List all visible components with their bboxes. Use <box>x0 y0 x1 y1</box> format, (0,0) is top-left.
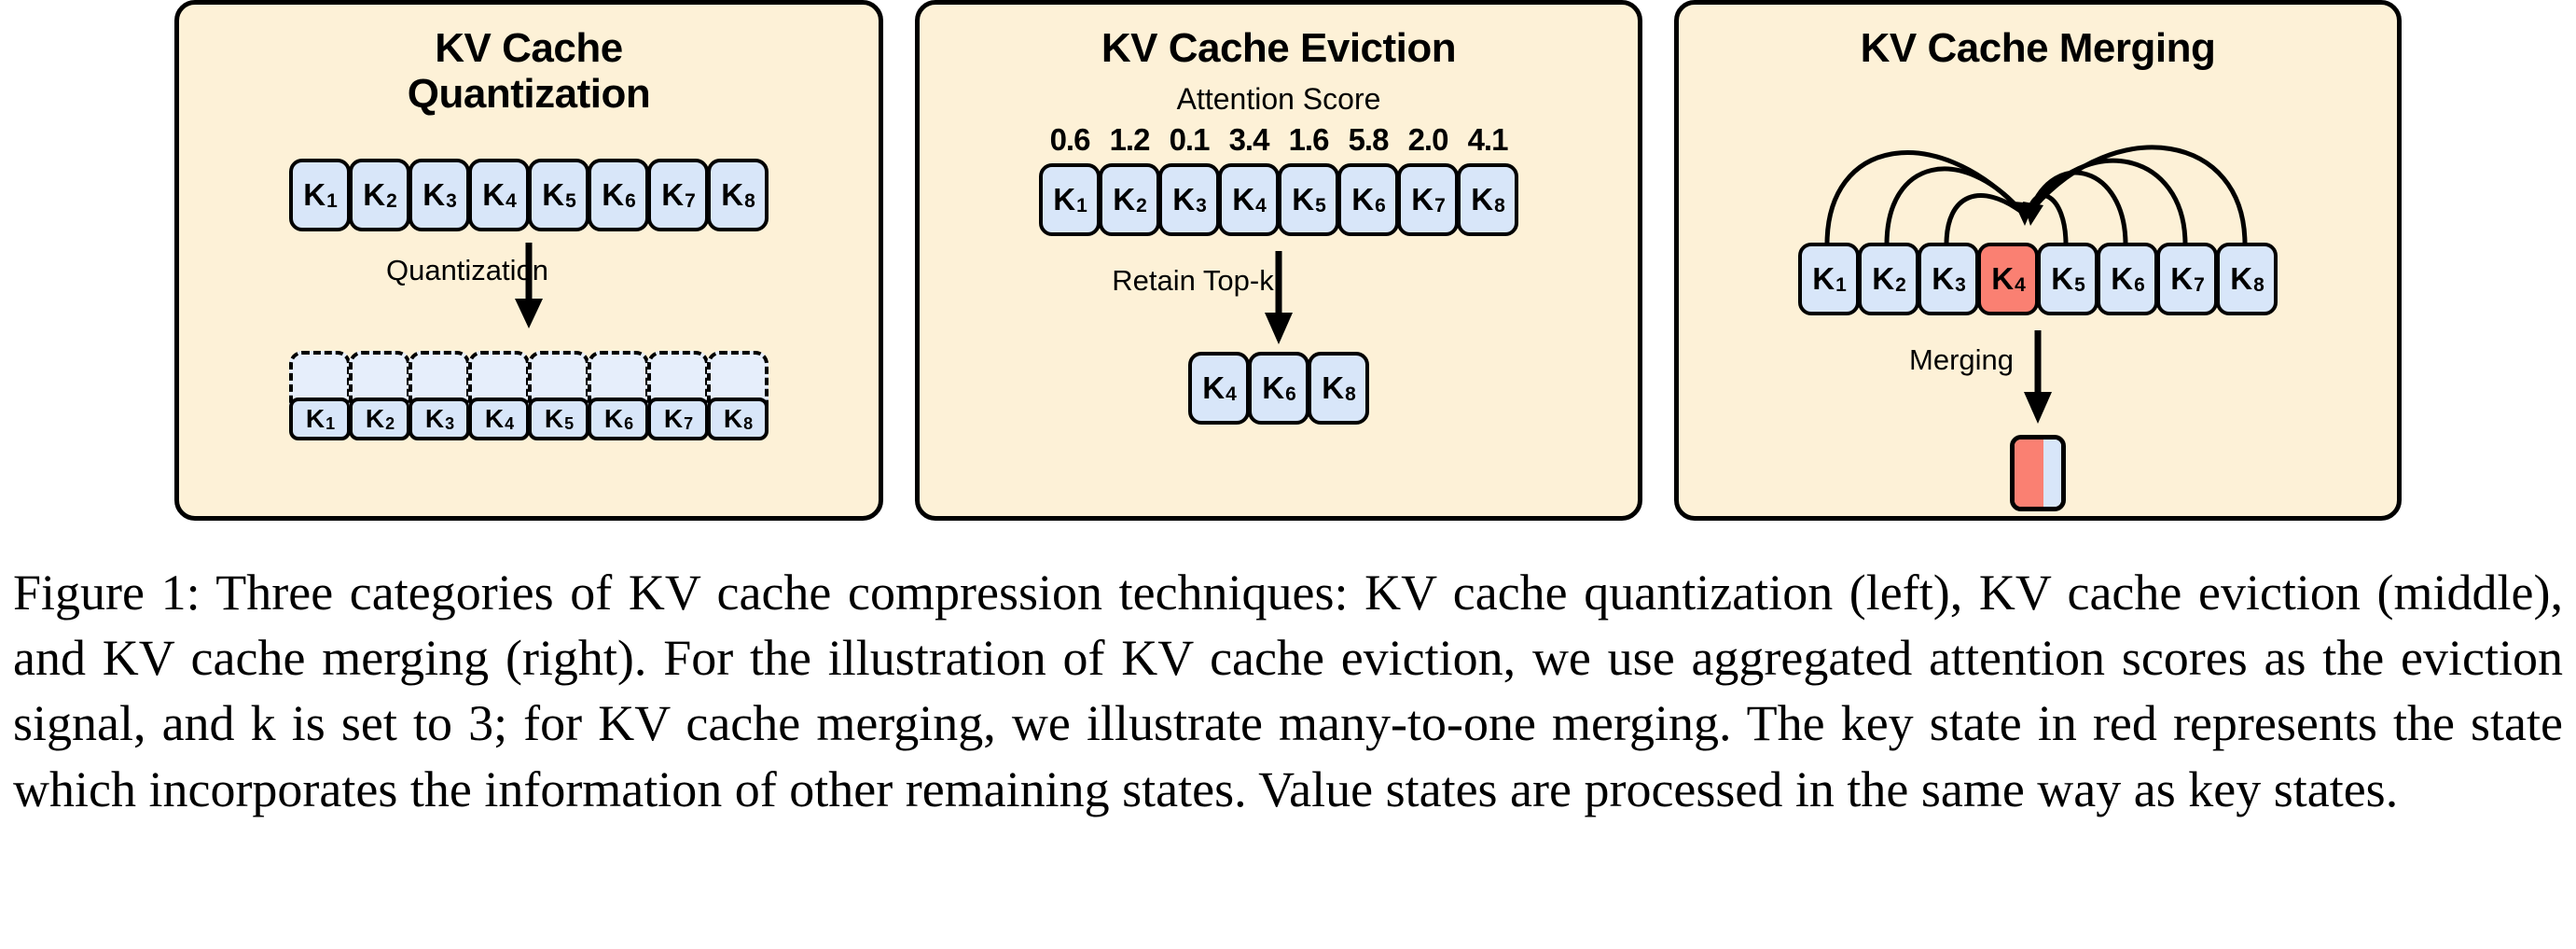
quantized-key-state-cell: K1 <box>289 351 351 440</box>
eviction-arrow-zone: Retain Top-k <box>920 249 1638 346</box>
merging-arrow-label: Merging <box>1909 343 2014 377</box>
quantized-key-state-box: K5 <box>528 398 589 440</box>
quantized-key-state-box: K7 <box>647 398 709 440</box>
quantized-key-state-box: K2 <box>349 398 410 440</box>
quantized-key-state-cell: K6 <box>588 351 649 440</box>
attention-score-value: 5.8 <box>1337 122 1399 158</box>
attention-score-row: 0.6 1.2 0.1 3.4 1.6 5.8 2.0 4.1 <box>920 122 1638 158</box>
key-state-box: K4 <box>1218 163 1280 236</box>
merged-output-row <box>1679 435 2397 511</box>
quantized-key-state-box: K8 <box>707 398 769 440</box>
attention-score-value: 0.1 <box>1158 122 1220 158</box>
key-state-box: K5 <box>1278 163 1339 236</box>
panel-title-merging: KV Cache Merging <box>1679 25 2397 71</box>
attention-score-value: 0.6 <box>1039 122 1101 158</box>
key-state-box: K1 <box>289 159 351 231</box>
panel-title-eviction: KV Cache Eviction <box>920 25 1638 71</box>
quantized-key-state-box: K3 <box>409 398 470 440</box>
key-state-box: K6 <box>2097 243 2158 315</box>
key-state-box: K1 <box>1798 243 1860 315</box>
retained-key-state-box: K6 <box>1248 352 1309 425</box>
panel-title-line-1: KV Cache <box>179 25 879 71</box>
quantized-key-state-cell: K2 <box>349 351 410 440</box>
quantized-key-state-cell: K5 <box>528 351 589 440</box>
figure-1-root: KV Cache Quantization K1 K2 K3 K4 K5 K6 … <box>0 0 2576 949</box>
panel-title-quantization: KV Cache Quantization <box>179 25 879 118</box>
key-state-box: K7 <box>2156 243 2218 315</box>
merge-arrowheads <box>2014 202 2043 226</box>
attention-score-heading: Attention Score <box>920 82 1638 117</box>
retained-key-state-box: K8 <box>1308 352 1369 425</box>
down-arrow-icon <box>1260 249 1297 346</box>
merging-arrow-zone: Merging <box>1679 328 2397 426</box>
merging-input-state-row: K1 K2 K3 K4 K5 K6 K7 K8 <box>1679 243 2397 315</box>
key-state-box: K8 <box>1457 163 1518 236</box>
eviction-arrow-label: Retain Top-k <box>1112 264 1273 298</box>
key-state-box: K3 <box>409 159 470 231</box>
panel-title-line-1: KV Cache Merging <box>1679 25 2397 71</box>
panel-kv-cache-quantization: KV Cache Quantization K1 K2 K3 K4 K5 K6 … <box>174 0 883 521</box>
key-state-box-highlighted: K4 <box>1977 243 2039 315</box>
merged-key-state-box <box>2010 435 2066 511</box>
panel-title-line-1: KV Cache Eviction <box>920 25 1638 71</box>
quantized-key-state-cell: K3 <box>409 351 470 440</box>
down-arrow-icon <box>510 241 547 330</box>
attention-score-value: 4.1 <box>1457 122 1518 158</box>
quantized-key-state-cell: K7 <box>647 351 709 440</box>
quantization-arrow-zone: Quantization <box>179 241 879 330</box>
quantization-input-state-row: K1 K2 K3 K4 K5 K6 K7 K8 <box>179 159 879 231</box>
merge-arcs-svg <box>1795 105 2280 246</box>
quantized-key-state-box: K6 <box>588 398 649 440</box>
attention-score-value: 1.6 <box>1278 122 1339 158</box>
panel-row: KV Cache Quantization K1 K2 K3 K4 K5 K6 … <box>0 0 2576 541</box>
key-state-box: K2 <box>1099 163 1160 236</box>
quantized-key-state-cell: K4 <box>468 351 530 440</box>
eviction-output-state-row: K4 K6 K8 <box>920 352 1638 425</box>
key-state-box: K2 <box>1858 243 1919 315</box>
key-state-box: K1 <box>1039 163 1101 236</box>
merging-arc-group <box>1679 105 2397 244</box>
panel-kv-cache-merging: KV Cache Merging <box>1674 0 2402 521</box>
attention-score-value: 2.0 <box>1397 122 1459 158</box>
attention-score-value: 3.4 <box>1218 122 1280 158</box>
merged-box-red-portion <box>2015 440 2043 507</box>
key-state-box: K6 <box>1337 163 1399 236</box>
down-arrow-icon <box>2019 328 2057 426</box>
key-state-box: K4 <box>468 159 530 231</box>
eviction-input-state-row: K1 K2 K3 K4 K5 K6 K7 K8 <box>920 163 1638 236</box>
key-state-box: K3 <box>1918 243 1979 315</box>
key-state-box: K7 <box>1397 163 1459 236</box>
quantization-output-state-row: K1 K2 K3 K4 K5 <box>179 351 879 440</box>
key-state-box: K8 <box>707 159 769 231</box>
merged-box-blue-portion <box>2043 440 2061 507</box>
key-state-box: K6 <box>588 159 649 231</box>
retained-key-state-box: K4 <box>1188 352 1250 425</box>
panel-title-line-2: Quantization <box>179 71 879 117</box>
attention-score-value: 1.2 <box>1099 122 1160 158</box>
key-state-box: K3 <box>1158 163 1220 236</box>
quantized-key-state-box: K4 <box>468 398 530 440</box>
panel-kv-cache-eviction: KV Cache Eviction Attention Score 0.6 1.… <box>915 0 1642 521</box>
quantized-key-state-cell: K8 <box>707 351 769 440</box>
merge-arc-from-k3 <box>1946 196 2023 244</box>
key-state-box: K7 <box>647 159 709 231</box>
key-state-box: K2 <box>349 159 410 231</box>
quantized-key-state-box: K1 <box>289 398 351 440</box>
key-state-box: K5 <box>2037 243 2098 315</box>
merge-arc-from-k6 <box>2030 173 2126 244</box>
key-state-box: K8 <box>2216 243 2278 315</box>
figure-caption: Figure 1: Three categories of KV cache c… <box>13 560 2563 822</box>
key-state-box: K5 <box>528 159 589 231</box>
